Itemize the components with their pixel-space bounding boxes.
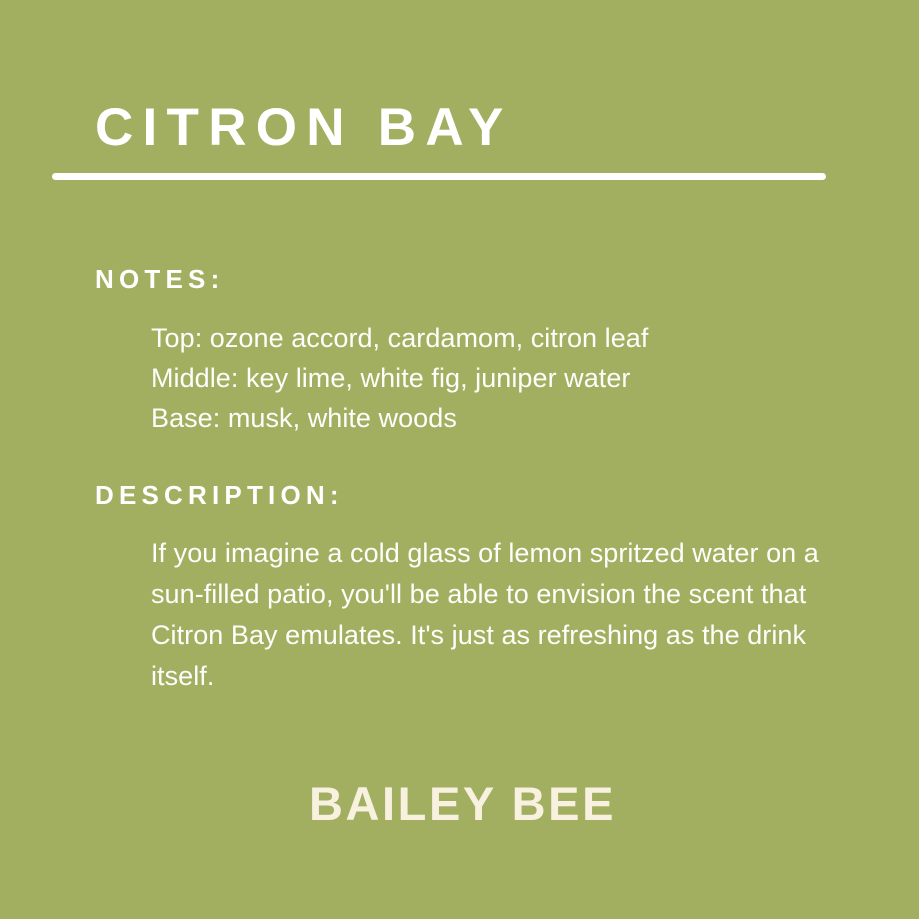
- note-line-base: Base: musk, white woods: [151, 398, 648, 438]
- notes-list: Top: ozone accord, cardamom, citron leaf…: [151, 318, 648, 438]
- note-line-middle: Middle: key lime, white fig, juniper wat…: [151, 358, 648, 398]
- title-divider: [52, 173, 826, 180]
- description-body: If you imagine a cold glass of lemon spr…: [151, 533, 823, 697]
- product-scent-card: CITRON BAY NOTES: Top: ozone accord, car…: [0, 0, 919, 919]
- notes-heading: NOTES:: [95, 266, 224, 292]
- brand-wordmark: BAILEY BEE: [0, 780, 919, 827]
- page-title: CITRON BAY: [95, 101, 513, 154]
- note-line-top: Top: ozone accord, cardamom, citron leaf: [151, 318, 648, 358]
- description-heading: DESCRIPTION:: [95, 482, 344, 508]
